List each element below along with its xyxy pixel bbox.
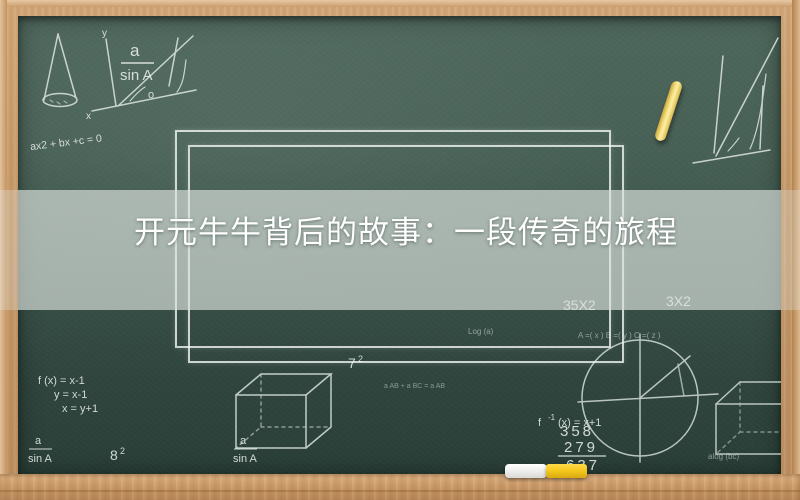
ledge-chalk-icon <box>546 464 587 478</box>
fraction-a-over-sina-topleft: a sin A <box>120 41 154 84</box>
quadratic-equation-text: ax2 + bx +c = 0 <box>30 132 103 153</box>
angle-arc-right-drawing <box>693 38 778 163</box>
frame-bevel-right <box>792 0 800 500</box>
function-lines-text: f (x) = x-1 y = x-1 x = y+1 <box>38 375 98 415</box>
eraser-icon <box>505 464 547 478</box>
axes-angle-drawing <box>92 36 196 111</box>
angle-label-topleft: o <box>148 89 154 101</box>
axis-y-label-topleft: y <box>102 28 107 39</box>
chalkboard-banner: a sin A ax2 + bx +c = 0 y x o f (x) = x-… <box>0 0 800 500</box>
svg-text:sin A: sin A <box>120 67 153 84</box>
alog-label: alog (bc) <box>708 452 739 461</box>
svg-text:8: 8 <box>110 447 118 463</box>
svg-text:x = y+1: x = y+1 <box>62 403 98 415</box>
svg-text:ax2 + bx +c = 0: ax2 + bx +c = 0 <box>30 132 103 153</box>
chalk-ledge <box>0 474 800 500</box>
fraction-a-over-sina-bottomcenter: a sin A <box>233 435 258 465</box>
board-chalk-stick-icon <box>654 80 684 142</box>
page-title: 开元牛牛背后的故事：一段传奇的旅程 <box>134 214 678 252</box>
svg-text:f: f <box>538 417 542 429</box>
svg-text:279: 279 <box>564 439 598 456</box>
inverse-function-text: f -1 (x) = x+1 <box>538 413 601 429</box>
frame-bevel-left <box>0 0 7 500</box>
svg-text:y = x-1: y = x-1 <box>54 389 87 401</box>
svg-text:a: a <box>35 435 42 447</box>
cube-left-drawing <box>236 374 331 448</box>
eight-squared-text: 8 2 <box>110 446 125 463</box>
cone-drawing <box>43 34 77 107</box>
frame-bevel-top <box>0 0 800 7</box>
faint-formula-text: a AB + a BC = a AB <box>384 383 445 390</box>
svg-text:2: 2 <box>120 446 125 456</box>
svg-text:f (x) = x-1: f (x) = x-1 <box>38 375 85 387</box>
svg-text:a: a <box>130 41 140 60</box>
axis-x-label-topleft: x <box>86 111 91 122</box>
svg-text:sin A: sin A <box>233 453 258 465</box>
svg-text:-1: -1 <box>548 413 556 422</box>
cube-right-drawing <box>716 382 781 454</box>
svg-text:358: 358 <box>560 423 594 440</box>
svg-text:a: a <box>240 435 247 447</box>
svg-text:(x) = x+1: (x) = x+1 <box>558 417 601 429</box>
svg-text:sin A: sin A <box>28 453 53 465</box>
ledge-lip <box>0 490 800 492</box>
fraction-a-over-sina-bottomleft: a sin A <box>28 435 53 465</box>
